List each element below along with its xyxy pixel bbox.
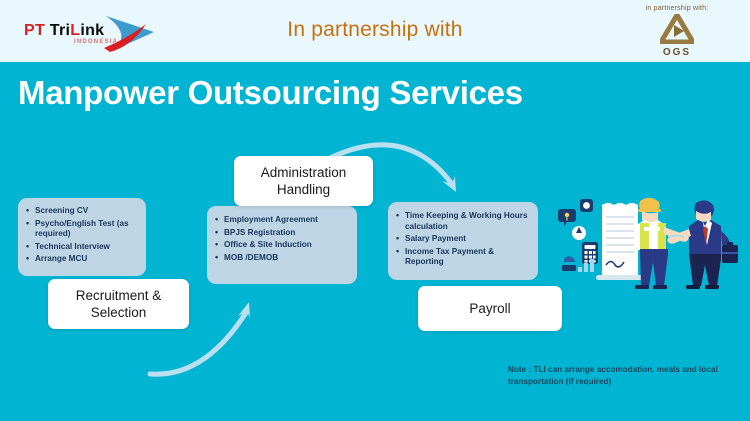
bullet-list-administration: Employment Agreement BPJS Registration O… — [215, 215, 350, 263]
businessman-figure — [667, 200, 738, 289]
trilink-wordmark: PT TriLink — [24, 22, 104, 40]
stage-label-administration-text: Administration Handling — [234, 164, 373, 198]
panel-recruitment: Screening CV Psycho/English Test (as req… — [18, 198, 146, 276]
bullet-list-payroll: Time Keeping & Working Hours calculation… — [396, 211, 531, 268]
list-item: Psycho/English Test (as required) — [26, 219, 139, 240]
list-item: Time Keeping & Working Hours calculation — [396, 211, 531, 232]
slide-body: Manpower Outsourcing Services Screening … — [0, 62, 750, 421]
trilink-arrow-icon — [102, 12, 162, 54]
worker-figure — [635, 198, 689, 289]
list-item: Screening CV — [26, 206, 139, 217]
handshake-contract-illustration — [556, 187, 746, 297]
footer-note: Note : TLI can arrange accomodation, mea… — [508, 364, 744, 388]
logo-text-tri: Tri — [50, 22, 70, 39]
stage-label-payroll-text: Payroll — [469, 300, 510, 317]
pt-trilink-logo: PT TriLink INDONESIA — [22, 12, 162, 54]
list-item: Arrange MCU — [26, 254, 139, 265]
list-item: Income Tax Payment & Reporting — [396, 247, 531, 268]
panel-payroll: Time Keeping & Working Hours calculation… — [388, 202, 538, 280]
list-item: Office & Site Induction — [215, 240, 350, 251]
decorative-icons-cluster — [558, 199, 598, 272]
logo-text-pt: PT — [24, 22, 50, 39]
ogs-logo: in partnership with: OGS — [622, 5, 732, 58]
list-item: Employment Agreement — [215, 215, 350, 226]
stage-label-recruitment-text: Recruitment & Selection — [48, 287, 189, 321]
stage-label-payroll[interactable]: Payroll — [418, 286, 562, 331]
logo-text-ink: ink — [80, 22, 104, 39]
ogs-triangle-icon — [660, 14, 694, 44]
bullet-list-recruitment: Screening CV Psycho/English Test (as req… — [26, 206, 139, 265]
header-bar: PT TriLink INDONESIA In partnership with… — [0, 0, 750, 62]
list-item: BPJS Registration — [215, 228, 350, 239]
page-title: Manpower Outsourcing Services — [18, 74, 523, 112]
list-item: Salary Payment — [396, 234, 531, 245]
list-item: Technical Interview — [26, 242, 139, 253]
list-item: MOB /DEMOB — [215, 253, 350, 264]
ogs-brand-text: OGS — [622, 47, 732, 58]
stage-label-recruitment[interactable]: Recruitment & Selection — [48, 279, 189, 329]
logo-subtitle: INDONESIA — [74, 39, 118, 45]
ogs-caption: in partnership with: — [622, 5, 732, 12]
contract-document-icon — [596, 203, 644, 280]
logo-text-l: L — [70, 22, 80, 39]
slide-canvas: PT TriLink INDONESIA In partnership with… — [0, 0, 750, 421]
panel-administration: Employment Agreement BPJS Registration O… — [207, 206, 357, 284]
stage-label-administration[interactable]: Administration Handling — [234, 156, 373, 206]
partnership-title-text: In partnership with — [287, 18, 462, 41]
